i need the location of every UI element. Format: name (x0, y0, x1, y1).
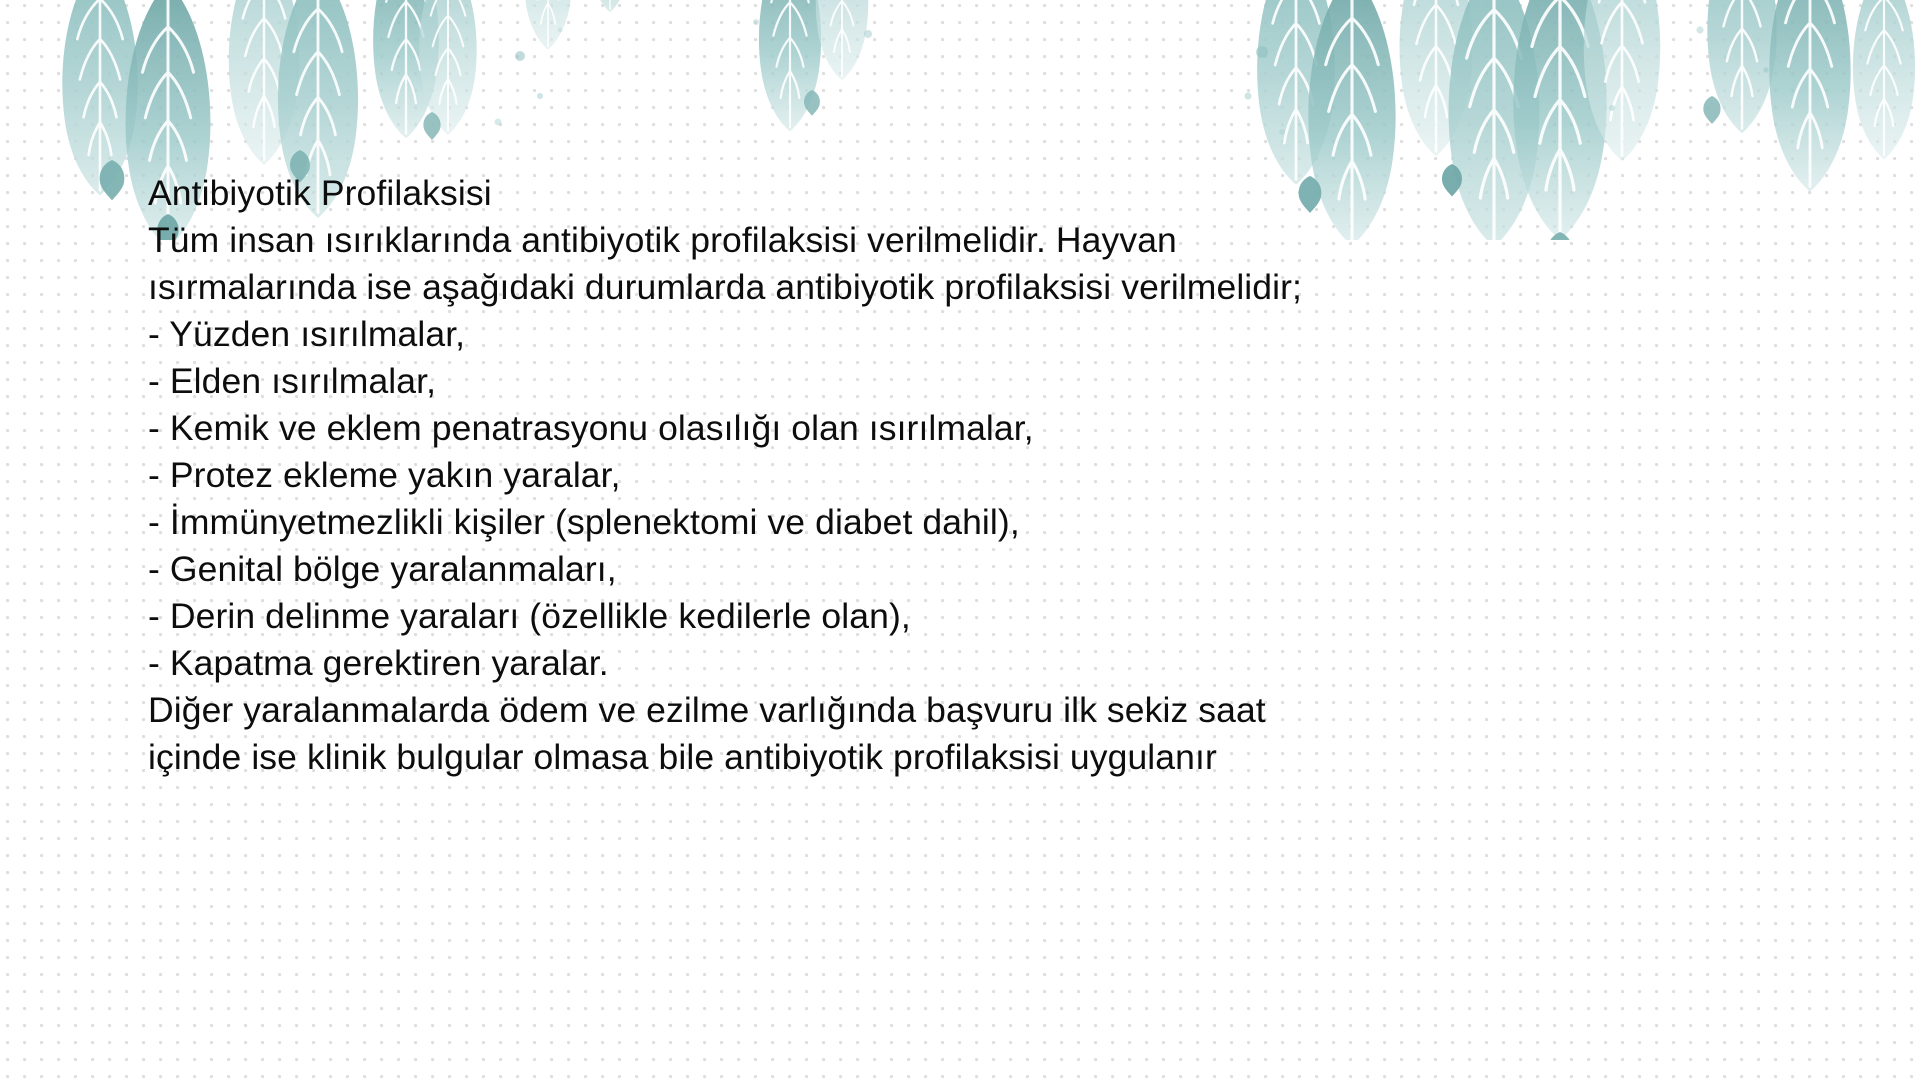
text-line-bullet-face: - Yüzden ısırılmalar, (148, 311, 1788, 358)
slide-canvas: Antibiyotik Profilaksisi Tüm insan ısırı… (0, 0, 1920, 1080)
slide-body-text: Antibiyotik Profilaksisi Tüm insan ısırı… (148, 170, 1788, 781)
text-line-bullet-prosthesis: - Protez ekleme yakın yaralar, (148, 452, 1788, 499)
text-line-heading: Antibiyotik Profilaksisi (148, 170, 1788, 217)
text-line-2: ısırmalarında ise aşağıdaki durumlarda a… (148, 264, 1788, 311)
text-line-bullet-bone: - Kemik ve eklem penatrasyonu olasılığı … (148, 405, 1788, 452)
text-line-closing-1: Diğer yaralanmalarda ödem ve ezilme varl… (148, 687, 1788, 734)
text-line-bullet-genital: - Genital bölge yaralanmaları, (148, 546, 1788, 593)
text-line-1: Tüm insan ısırıklarında antibiyotik prof… (148, 217, 1788, 264)
text-line-bullet-hand: - Elden ısırılmalar, (148, 358, 1788, 405)
text-line-closing-2: içinde ise klinik bulgular olmasa bile a… (148, 734, 1788, 781)
text-line-bullet-immunocompromised: - İmmünyetmezlikli kişiler (splenektomi … (148, 499, 1788, 546)
text-line-bullet-puncture: - Derin delinme yaraları (özellikle kedi… (148, 593, 1788, 640)
text-line-bullet-closure: - Kapatma gerektiren yaralar. (148, 640, 1788, 687)
